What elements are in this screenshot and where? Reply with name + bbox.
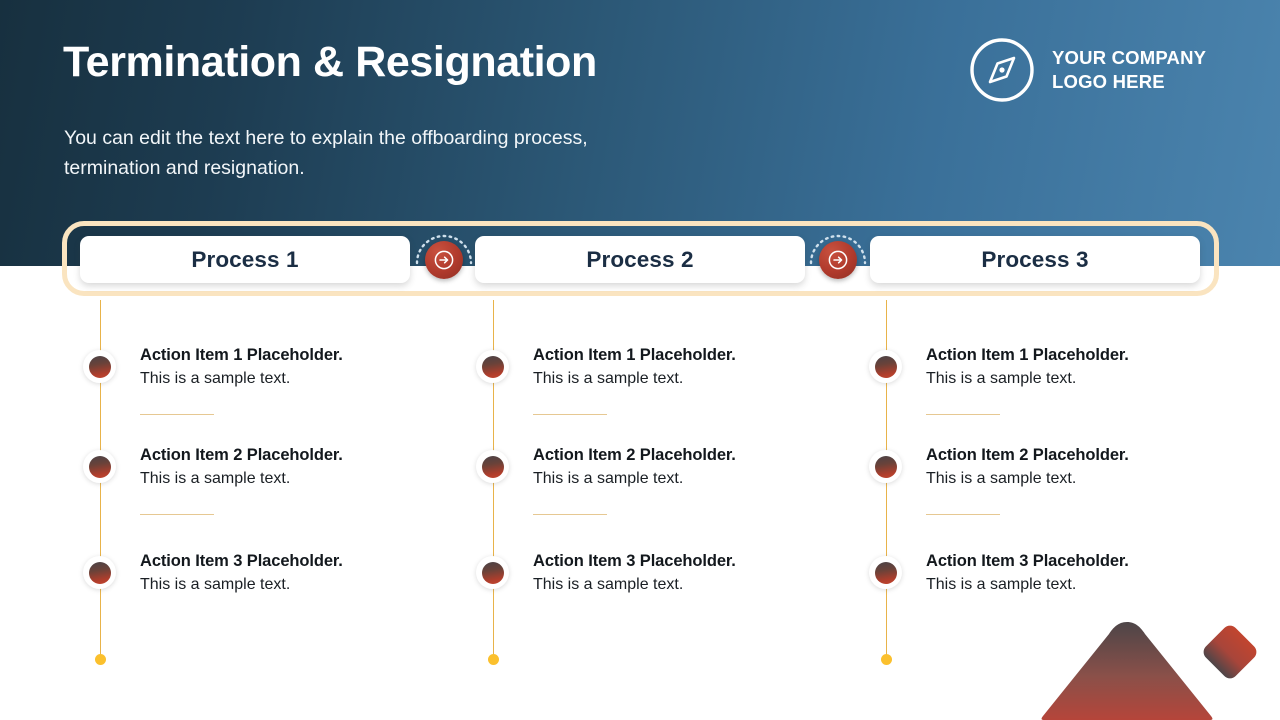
timeline-bullet-icon bbox=[476, 350, 509, 383]
process-connector-1 bbox=[413, 229, 475, 291]
timeline-end-dot bbox=[488, 654, 499, 665]
list-item-text: This is a sample text. bbox=[533, 574, 849, 597]
list-item-body: Action Item 1 Placeholder. This is a sam… bbox=[533, 344, 849, 391]
arrow-right-glyph bbox=[432, 248, 456, 272]
compass-icon bbox=[968, 36, 1036, 104]
logo-text-line-1: YOUR COMPANY bbox=[1052, 46, 1206, 70]
list-item[interactable]: Action Item 1 Placeholder. This is a sam… bbox=[62, 344, 456, 422]
timeline-bullet-icon bbox=[83, 350, 116, 383]
page-subtitle: You can edit the text here to explain th… bbox=[64, 124, 764, 183]
timeline-bullet-icon bbox=[83, 450, 116, 483]
process-box-3[interactable]: Process 3 bbox=[870, 236, 1200, 283]
list-item-body: Action Item 2 Placeholder. This is a sam… bbox=[533, 444, 849, 491]
list-item[interactable]: Action Item 2 Placeholder. This is a sam… bbox=[455, 444, 849, 522]
timeline-bullet-icon bbox=[869, 450, 902, 483]
decorative-diamond-shape bbox=[1191, 613, 1269, 691]
list-item[interactable]: Action Item 3 Placeholder. This is a sam… bbox=[455, 550, 849, 628]
timeline-bullet-icon bbox=[869, 556, 902, 589]
list-item[interactable]: Action Item 2 Placeholder. This is a sam… bbox=[62, 444, 456, 522]
subtitle-line-1: You can edit the text here to explain th… bbox=[64, 124, 764, 154]
list-item-title: Action Item 2 Placeholder. bbox=[533, 444, 849, 467]
list-item-title: Action Item 3 Placeholder. bbox=[140, 550, 456, 573]
list-item-text: This is a sample text. bbox=[533, 468, 849, 491]
process-connector-2 bbox=[807, 229, 869, 291]
logo-text-line-2: LOGO HERE bbox=[1052, 70, 1206, 94]
list-item-divider bbox=[926, 514, 1000, 515]
timeline-bullet-icon bbox=[869, 350, 902, 383]
timeline-bullet-icon bbox=[476, 556, 509, 589]
timeline-column-3: Action Item 1 Placeholder. This is a sam… bbox=[848, 296, 1242, 676]
timeline-end-dot bbox=[95, 654, 106, 665]
timeline-column-2: Action Item 1 Placeholder. This is a sam… bbox=[455, 296, 849, 676]
company-logo: YOUR COMPANY LOGO HERE bbox=[968, 34, 1238, 106]
decorative-triangle-shape bbox=[1037, 620, 1217, 720]
process-box-1[interactable]: Process 1 bbox=[80, 236, 410, 283]
list-item-title: Action Item 2 Placeholder. bbox=[140, 444, 456, 467]
process-box-2-label: Process 2 bbox=[586, 247, 693, 273]
list-item-divider bbox=[140, 514, 214, 515]
list-item-body: Action Item 3 Placeholder. This is a sam… bbox=[533, 550, 849, 597]
process-box-1-label: Process 1 bbox=[191, 247, 298, 273]
list-item[interactable]: Action Item 3 Placeholder. This is a sam… bbox=[848, 550, 1242, 628]
list-item-title: Action Item 1 Placeholder. bbox=[926, 344, 1242, 367]
process-box-3-label: Process 3 bbox=[981, 247, 1088, 273]
list-item[interactable]: Action Item 1 Placeholder. This is a sam… bbox=[455, 344, 849, 422]
timeline-end-dot bbox=[881, 654, 892, 665]
list-item[interactable]: Action Item 3 Placeholder. This is a sam… bbox=[62, 550, 456, 628]
timeline-column-1: Action Item 1 Placeholder. This is a sam… bbox=[62, 296, 456, 676]
list-item-text: This is a sample text. bbox=[140, 368, 456, 391]
list-item-body: Action Item 3 Placeholder. This is a sam… bbox=[140, 550, 456, 597]
list-item-body: Action Item 1 Placeholder. This is a sam… bbox=[926, 344, 1242, 391]
list-item-text: This is a sample text. bbox=[533, 368, 849, 391]
list-item[interactable]: Action Item 1 Placeholder. This is a sam… bbox=[848, 344, 1242, 422]
list-item-body: Action Item 1 Placeholder. This is a sam… bbox=[140, 344, 456, 391]
list-item-title: Action Item 2 Placeholder. bbox=[926, 444, 1242, 467]
slide-root: Termination & Resignation You can edit t… bbox=[0, 0, 1280, 720]
list-item-divider bbox=[533, 414, 607, 415]
list-item[interactable]: Action Item 2 Placeholder. This is a sam… bbox=[848, 444, 1242, 522]
subtitle-line-2: termination and resignation. bbox=[64, 154, 764, 184]
list-item-title: Action Item 3 Placeholder. bbox=[533, 550, 849, 573]
list-item-text: This is a sample text. bbox=[140, 574, 456, 597]
timeline-bullet-icon bbox=[476, 450, 509, 483]
list-item-body: Action Item 3 Placeholder. This is a sam… bbox=[926, 550, 1242, 597]
timeline-bullet-icon bbox=[83, 556, 116, 589]
list-item-title: Action Item 3 Placeholder. bbox=[926, 550, 1242, 573]
list-item-title: Action Item 1 Placeholder. bbox=[140, 344, 456, 367]
list-item-body: Action Item 2 Placeholder. This is a sam… bbox=[140, 444, 456, 491]
arrow-right-circle-icon[interactable] bbox=[819, 241, 857, 279]
page-title: Termination & Resignation bbox=[63, 38, 597, 87]
list-item-text: This is a sample text. bbox=[140, 468, 456, 491]
list-item-divider bbox=[140, 414, 214, 415]
arrow-right-circle-icon[interactable] bbox=[425, 241, 463, 279]
list-item-text: This is a sample text. bbox=[926, 574, 1242, 597]
list-item-title: Action Item 1 Placeholder. bbox=[533, 344, 849, 367]
logo-text: YOUR COMPANY LOGO HERE bbox=[1052, 46, 1206, 93]
list-item-divider bbox=[533, 514, 607, 515]
list-item-text: This is a sample text. bbox=[926, 468, 1242, 491]
arrow-right-glyph bbox=[826, 248, 850, 272]
list-item-divider bbox=[926, 414, 1000, 415]
list-item-text: This is a sample text. bbox=[926, 368, 1242, 391]
process-box-2[interactable]: Process 2 bbox=[475, 236, 805, 283]
list-item-body: Action Item 2 Placeholder. This is a sam… bbox=[926, 444, 1242, 491]
